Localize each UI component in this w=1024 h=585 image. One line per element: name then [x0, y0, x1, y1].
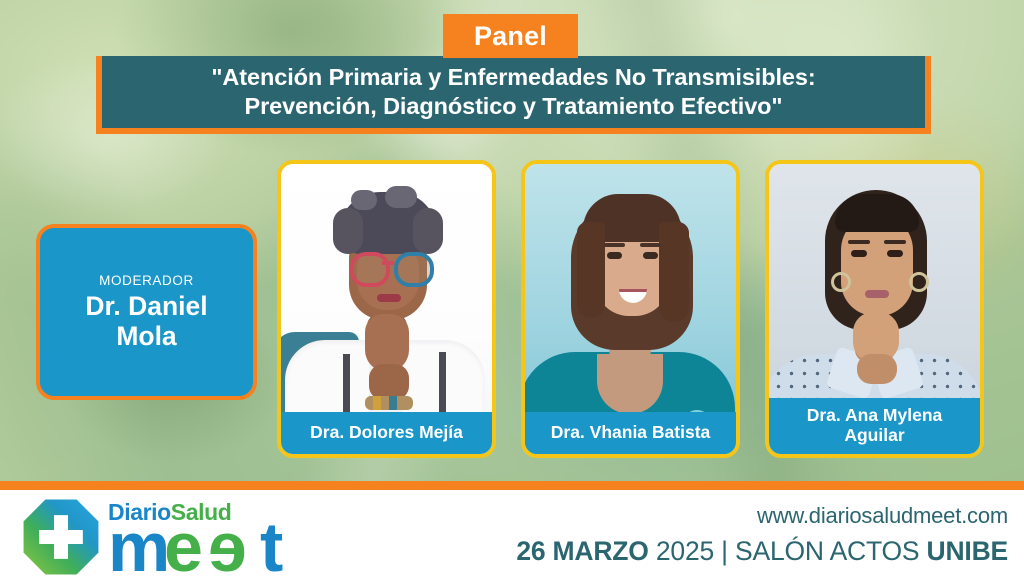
meet-letter-e1: e	[164, 520, 200, 575]
title-bar: "Atención Primaria y Enfermedades No Tra…	[102, 56, 925, 128]
speaker-card: Dra. Vhania Batista	[521, 160, 740, 458]
meet-letter-m: m	[108, 520, 167, 575]
brand-meet-text: m e e t	[108, 520, 231, 574]
meet-letter-t: t	[260, 520, 280, 575]
moderator-name-line-1: Dr. Daniel	[85, 292, 207, 322]
speaker-name-band: Dra. Dolores Mejía	[281, 412, 492, 454]
speaker-card: Dra. Dolores Mejía	[277, 160, 496, 458]
speaker-photo	[281, 164, 492, 454]
moderator-card: MODERADOR Dr. Daniel Mola	[36, 224, 257, 400]
speaker-name-band: Dra. Ana Mylena Aguilar	[769, 398, 980, 454]
footer-details: www.diariosaludmeet.com 26 MARZO 2025 | …	[516, 502, 1008, 568]
speaker-name: Dra. Vhania Batista	[551, 423, 711, 443]
event-date-venue: 26 MARZO 2025 | SALÓN ACTOS UNIBE	[516, 534, 1008, 568]
orange-divider	[0, 481, 1024, 490]
event-date-bold: 26 MARZO	[516, 536, 648, 566]
title-line-2: Prevención, Diagnóstico y Tratamiento Ef…	[211, 92, 815, 121]
website-url[interactable]: www.diariosaludmeet.com	[516, 502, 1008, 530]
medical-cross-icon	[22, 498, 100, 576]
speaker-name-band: Dra. Vhania Batista	[525, 412, 736, 454]
moderator-name: Dr. Daniel Mola	[85, 292, 207, 351]
speaker-name: Dra. Dolores Mejía	[310, 423, 463, 443]
event-venue: UNIBE	[927, 536, 1008, 566]
panel-badge: Panel	[443, 14, 578, 58]
panel-badge-label: Panel	[474, 21, 547, 52]
moderator-name-line-2: Mola	[85, 322, 207, 352]
speaker-name-line-2: Aguilar	[807, 426, 943, 446]
brand-logo: DiarioSalud m e e t	[22, 498, 231, 576]
brand-wordmark: DiarioSalud m e e t	[108, 501, 231, 574]
speaker-name: Dra. Ana Mylena	[807, 406, 943, 426]
meet-letter-e2-mirrored: e	[211, 520, 247, 575]
page-title: "Atención Primaria y Enfermedades No Tra…	[199, 63, 827, 120]
title-line-1: "Atención Primaria y Enfermedades No Tra…	[211, 63, 815, 92]
event-date-rest: 2025 | SALÓN ACTOS	[649, 536, 927, 566]
moderator-role-label: MODERADOR	[99, 273, 194, 288]
flyer-canvas: Panel "Atención Primaria y Enfermedades …	[0, 0, 1024, 585]
footer: DiarioSalud m e e t www.diariosaludmeet.…	[0, 490, 1024, 585]
speaker-photo	[525, 164, 736, 454]
speaker-card: Dra. Ana Mylena Aguilar	[765, 160, 984, 458]
